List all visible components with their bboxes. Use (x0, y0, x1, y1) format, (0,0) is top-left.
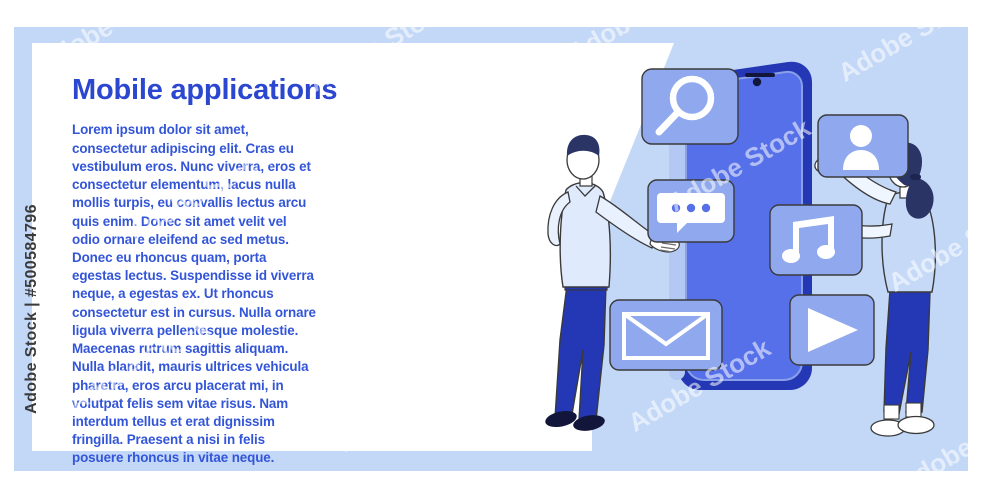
app-card-search[interactable] (642, 69, 738, 144)
people-and-phone-illustration (0, 0, 1000, 500)
woman-hair-tie (910, 174, 921, 180)
app-card-chat[interactable] (648, 180, 734, 242)
woman-ponytail (906, 178, 933, 218)
illustration-canvas: Mobile applications Lorem ipsum dolor si… (0, 0, 1000, 500)
man-shoe-right (572, 413, 606, 433)
woman-figure (815, 142, 935, 436)
woman-trousers (884, 290, 930, 414)
adobe-stock-watermark: Adobe Stock | #500584796 (23, 189, 41, 429)
woman-sock-right (906, 403, 921, 417)
app-card-mail[interactable] (610, 300, 722, 370)
app-card-profile[interactable] (818, 115, 908, 177)
man-trousers (555, 285, 606, 420)
woman-shoe-right (898, 417, 934, 434)
woman-sock-left (884, 405, 899, 419)
phone-camera-icon (753, 78, 761, 86)
app-card-video[interactable] (790, 295, 874, 365)
app-card-music[interactable] (770, 205, 862, 275)
phone-speaker-icon (745, 73, 775, 77)
